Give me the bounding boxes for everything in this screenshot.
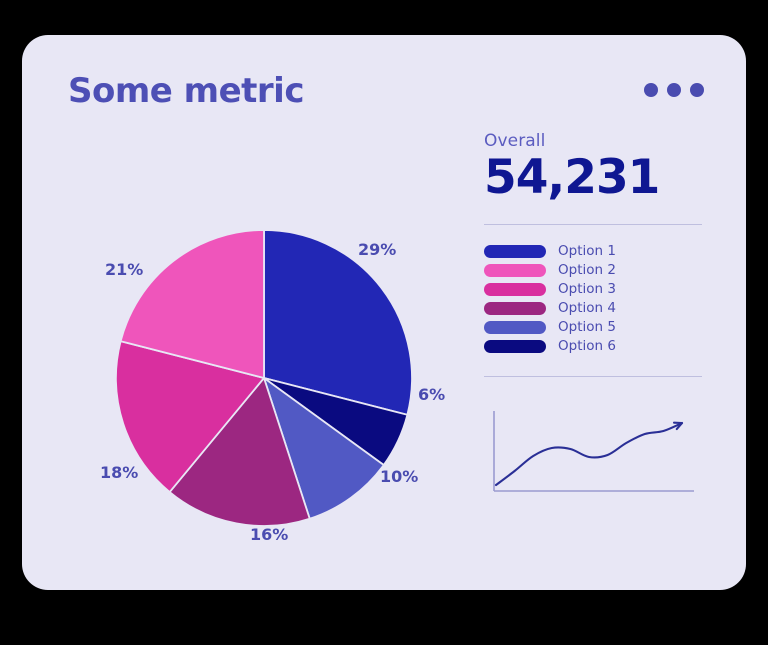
metric-card: Some metric 29% 6% 10% 16% 18% 21% Overa… — [22, 35, 746, 590]
pie-label-option-5: 10% — [380, 467, 418, 486]
legend-item-6[interactable]: Option 6 — [484, 338, 714, 354]
legend-swatch-icon — [484, 340, 546, 353]
legend-item-5[interactable]: Option 5 — [484, 319, 714, 335]
legend: Option 1Option 2Option 3Option 4Option 5… — [484, 243, 714, 354]
sparkline-svg — [484, 403, 702, 503]
sparkline-chart — [484, 403, 714, 503]
pie-label-option-6: 6% — [418, 385, 445, 404]
legend-swatch-icon — [484, 283, 546, 296]
pie-chart-svg — [22, 155, 472, 575]
overall-value: 54,231 — [484, 153, 714, 202]
menu-dot — [644, 83, 658, 97]
pie-label-option-2: 21% — [105, 260, 143, 279]
legend-swatch-icon — [484, 302, 546, 315]
pie-label-option-3: 18% — [100, 463, 138, 482]
pie-chart: 29% 6% 10% 16% 18% 21% — [22, 155, 472, 575]
legend-item-label: Option 5 — [558, 319, 616, 335]
divider-bottom — [484, 376, 702, 377]
menu-dot — [667, 83, 681, 97]
legend-item-label: Option 4 — [558, 300, 616, 316]
pie-slices — [116, 230, 412, 526]
legend-swatch-icon — [484, 264, 546, 277]
legend-item-label: Option 6 — [558, 338, 616, 354]
legend-item-label: Option 3 — [558, 281, 616, 297]
summary-panel: Overall 54,231 Option 1Option 2Option 3O… — [484, 131, 714, 503]
legend-swatch-icon — [484, 245, 546, 258]
menu-dot — [690, 83, 704, 97]
pie-label-option-4: 16% — [250, 525, 288, 544]
legend-item-label: Option 2 — [558, 262, 616, 278]
divider-top — [484, 224, 702, 225]
legend-item-1[interactable]: Option 1 — [484, 243, 714, 259]
page-title: Some metric — [68, 71, 304, 111]
screenshot-stage: Some metric 29% 6% 10% 16% 18% 21% Overa… — [0, 0, 768, 645]
legend-item-label: Option 1 — [558, 243, 616, 259]
legend-swatch-icon — [484, 321, 546, 334]
more-horizontal-icon[interactable] — [644, 83, 704, 97]
legend-item-4[interactable]: Option 4 — [484, 300, 714, 316]
pie-label-option-1: 29% — [358, 240, 396, 259]
overall-label: Overall — [484, 131, 714, 151]
legend-item-3[interactable]: Option 3 — [484, 281, 714, 297]
legend-item-2[interactable]: Option 2 — [484, 262, 714, 278]
sparkline-path — [496, 423, 682, 485]
